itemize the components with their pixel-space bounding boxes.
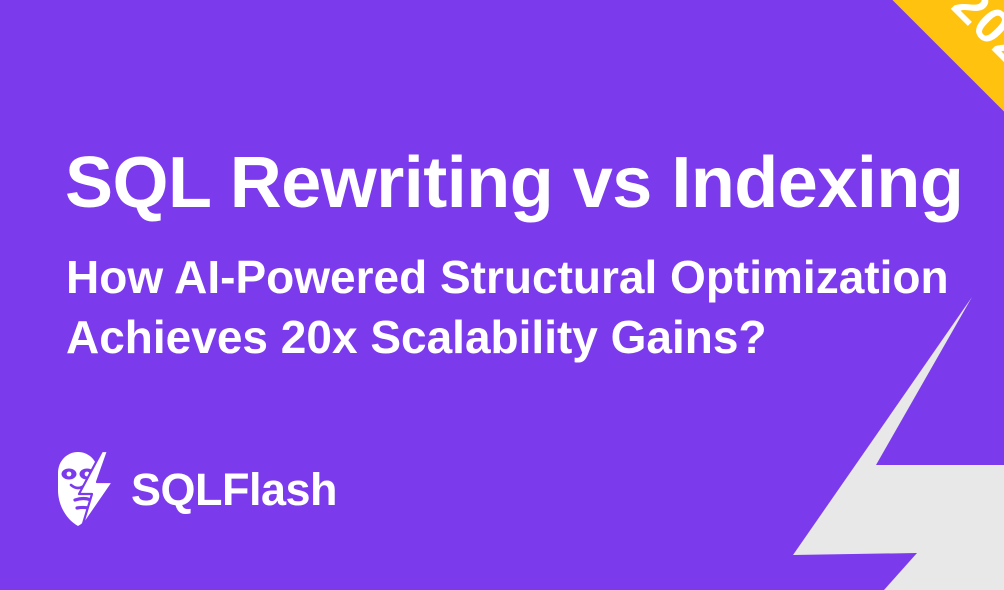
page-subtitle-line-1: How AI-Powered Structural Optimization (66, 248, 966, 308)
page-subtitle: How AI-Powered Structural Optimization A… (66, 248, 966, 368)
page-subtitle-line-2: Achieves 20x Scalability Gains? (66, 308, 966, 368)
ribbon-year-label: 2025 (883, 0, 1004, 95)
brand-wordmark: SQLFlash (131, 467, 337, 512)
page-title: SQL Rewriting vs Indexing (65, 146, 963, 222)
promo-banner: 2025 SQL Rewriting vs Indexing How AI-Po… (0, 0, 1004, 590)
brand-logo-lockup: SQLFlash (55, 450, 337, 528)
sloth-lightning-logo-icon (55, 450, 117, 528)
